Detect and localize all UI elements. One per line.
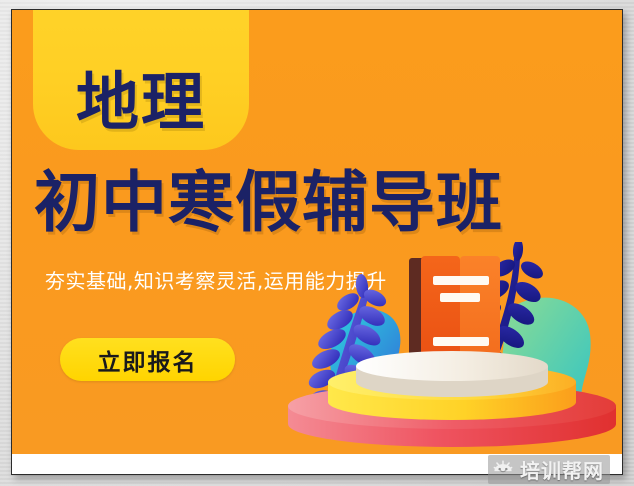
enroll-now-button[interactable]: 立即报名 xyxy=(60,338,235,381)
watermark-label: 培训帮网 xyxy=(520,455,604,484)
subject-badge: 地理 xyxy=(33,10,249,150)
subject-badge-label: 地理 xyxy=(76,71,206,134)
page-background: 地理 初中寒假辅导班 夯实基础,知识考察灵活,运用能力提升 立即报名 xyxy=(0,0,634,486)
podium-top-tier xyxy=(356,351,548,397)
watermark: 培训帮网 xyxy=(488,455,610,484)
book-podium-illustration xyxy=(282,242,622,454)
enroll-now-label: 立即报名 xyxy=(98,343,198,377)
sun-face-icon xyxy=(492,459,514,481)
page-title: 初中寒假辅导班 xyxy=(34,170,600,236)
promo-banner: 地理 初中寒假辅导班 夯实基础,知识考察灵活,运用能力提升 立即报名 xyxy=(12,10,622,454)
banner-frame: 地理 初中寒假辅导班 夯实基础,知识考察灵活,运用能力提升 立即报名 xyxy=(11,9,623,475)
